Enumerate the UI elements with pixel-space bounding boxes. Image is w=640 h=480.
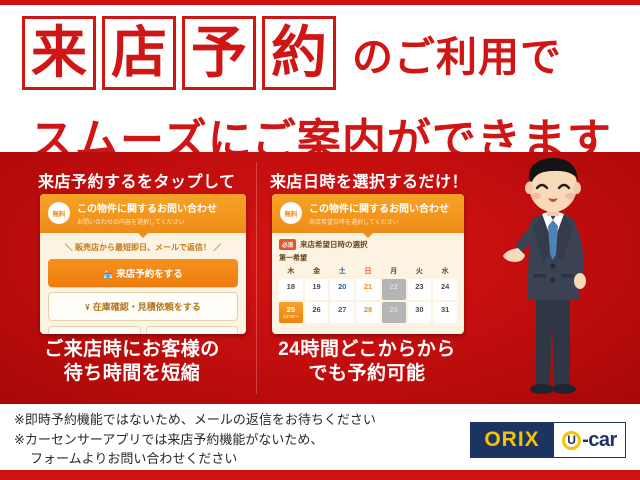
yen-icon: ¥ (85, 303, 89, 312)
inquiry-card-subtitle: お問い合わせの内容を選択してください (77, 217, 238, 226)
calendar-day[interactable]: 26 (305, 302, 329, 323)
selected-day-time: 14:00〜 (279, 315, 303, 320)
headline-kanji-box-2: 店 (102, 16, 176, 90)
calendar-day[interactable]: 28 (356, 302, 380, 323)
headline-tail-text: のご利用で (352, 23, 562, 83)
headline-kanji-box-4: 約 (262, 16, 336, 90)
other-button[interactable]: その他 (146, 326, 239, 334)
calendar-day-disabled: 22 (382, 279, 406, 300)
inquiry-card-header: 無料 この物件に関するお問い合わせ お問い合わせの内容を選択してください (40, 194, 246, 233)
calendar-field-label-row: 必須 来店希望日時の選択 (279, 239, 457, 250)
dow-header: 金 (305, 266, 329, 277)
right-caption-line-2: でも予約可能 (262, 362, 472, 386)
calendar-card-header: 無料 この物件に関するお問い合わせ 来店希望日時を選択してください (272, 194, 464, 233)
calendar-body: 必須 来店希望日時の選択 第一希望 木 金 土 日 月 火 水 18 19 20… (272, 233, 464, 328)
left-caption-line-1: ご来店時にお客様の (16, 338, 248, 362)
preference-label: 第一希望 (279, 253, 457, 263)
orix-wordmark: ORIX (470, 422, 554, 458)
required-badge: 必須 (279, 239, 296, 250)
ucar-text: -car (582, 429, 617, 452)
calendar-day[interactable]: 19 (305, 279, 329, 300)
calendar-card-subtitle: 来店希望日時を選択してください (309, 217, 456, 226)
orix-ucar-logo: ORIX U -car (470, 422, 626, 458)
salesman-illustration (500, 150, 610, 405)
footnote-line-1: ※即時予約機能ではないため、メールの返信をお待ちください (14, 410, 454, 430)
reserve-visit-button[interactable]: 🏪来店予約をする (48, 259, 238, 287)
dow-header: 火 (408, 266, 432, 277)
right-caption-line-1: 24時間どこからから (262, 338, 472, 362)
footnote-block: ※即時予約機能ではないため、メールの返信をお待ちください ※カーセンサーアプリで… (14, 410, 454, 469)
u-circle-icon: U (562, 431, 581, 450)
ucar-wordmark: U -car (554, 422, 626, 458)
left-panel-heading: 来店予約するをタップして (38, 168, 236, 192)
right-panel-heading: 来店日時を選択するだけ！ (270, 168, 468, 192)
header-notch-icon (362, 232, 374, 238)
dow-header: 土 (330, 266, 354, 277)
calendar-app-card: 無料 この物件に関するお問い合わせ 来店希望日時を選択してください 必須 来店希… (272, 194, 464, 334)
bottom-red-rule (0, 470, 640, 480)
reserve-visit-label: 来店予約をする (116, 269, 183, 280)
calendar-field-label: 来店希望日時の選択 (300, 239, 368, 250)
headline-section: 来 店 予 約 のご利用で スムーズにご案内ができます (0, 8, 640, 148)
calendar-day[interactable]: 18 (279, 279, 303, 300)
free-badge-icon: 無料 (280, 202, 302, 224)
calendar-day[interactable]: 30 (408, 302, 432, 323)
footnote-line-2: ※カーセンサーアプリでは来店予約機能がないため、 (14, 430, 454, 450)
calendar-grid: 木 金 土 日 月 火 水 18 19 20 21 22 23 24 25 14… (279, 266, 457, 323)
calendar-day[interactable]: 21 (356, 279, 380, 300)
calendar-card-title: この物件に関するお問い合わせ (309, 200, 456, 215)
inquiry-app-card: 無料 この物件に関するお問い合わせ お問い合わせの内容を選択してください ＼ 販… (40, 194, 246, 334)
store-icon: 🏪 (103, 270, 113, 279)
left-panel-caption: ご来店時にお客様の 待ち時間を短縮 (16, 338, 248, 387)
secondary-button-row: 🚗車両状態を確認する その他 (48, 326, 238, 334)
selected-day-number: 25 (287, 305, 295, 314)
dow-header: 日 (356, 266, 380, 277)
dow-header: 月 (382, 266, 406, 277)
calendar-day[interactable]: 23 (408, 279, 432, 300)
stock-quote-label: 在庫確認・見積依頼をする (93, 302, 201, 312)
calendar-day[interactable]: 31 (433, 302, 457, 323)
panel-divider (256, 162, 257, 394)
headline-kanji-box-1: 来 (22, 16, 96, 90)
left-caption-line-2: 待ち時間を短縮 (16, 362, 248, 386)
header-notch-icon (137, 232, 149, 238)
footnote-line-3: フォームよりお問い合わせください (14, 449, 454, 469)
right-panel-caption: 24時間どこからから でも予約可能 (262, 338, 472, 387)
calendar-day[interactable]: 24 (433, 279, 457, 300)
headline-kanji-box-3: 予 (182, 16, 256, 90)
inquiry-card-title: この物件に関するお問い合わせ (77, 200, 238, 215)
vehicle-condition-button[interactable]: 🚗車両状態を確認する (48, 326, 141, 334)
top-red-rule (0, 0, 640, 5)
promo-banner: 来 店 予 約 のご利用で スムーズにご案内ができます 来店予約するをタップして… (0, 0, 640, 480)
calendar-day[interactable]: 20 (330, 279, 354, 300)
calendar-day[interactable]: 27 (330, 302, 354, 323)
free-badge-icon: 無料 (48, 202, 70, 224)
calendar-day-disabled: 29 (382, 302, 406, 323)
calendar-day-selected[interactable]: 25 14:00〜 (279, 302, 303, 323)
stock-quote-button[interactable]: ¥在庫確認・見積依頼をする (48, 292, 238, 321)
headline-row-1: 来 店 予 約 のご利用で (22, 16, 562, 90)
dow-header: 水 (433, 266, 457, 277)
dow-header: 木 (279, 266, 303, 277)
